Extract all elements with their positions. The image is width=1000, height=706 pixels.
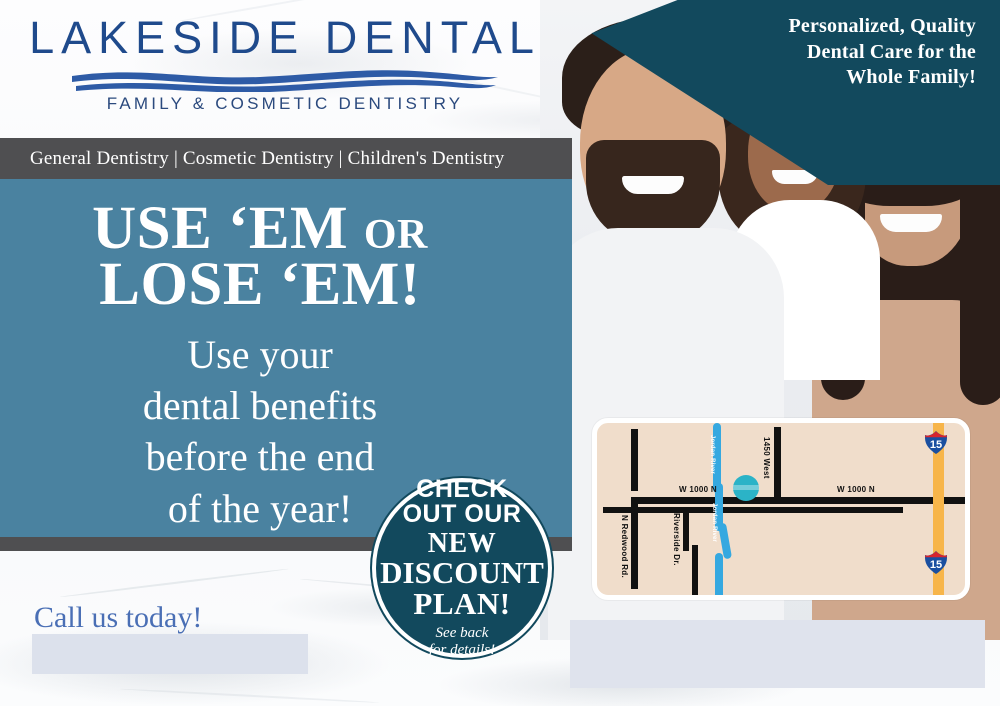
map-label-river-upper: Jordan River: [709, 435, 715, 474]
map-road-riverside: [683, 511, 689, 551]
map-road-redwood: [631, 429, 638, 491]
badge-line-5: PLAN!: [413, 589, 510, 619]
services-bar-text: General Dentistry | Cosmetic Dentistry |…: [0, 148, 504, 170]
badge-note: See back for details!: [429, 625, 495, 659]
map-road-1450west: [774, 427, 781, 501]
interstate-shield-top-icon: 15: [923, 429, 949, 455]
brand-name: LAKESIDE DENTAL: [0, 14, 570, 61]
marble-vein: [120, 688, 380, 704]
contact-placeholder-right[interactable]: [570, 620, 985, 688]
map-label-redwood: N Redwood Rd.: [620, 515, 629, 578]
map-office-location-pin[interactable]: [733, 475, 759, 501]
location-map[interactable]: W 1000 N W 1000 N 1450 West N Redwood Rd…: [592, 418, 970, 600]
hero-headline-line-2: LOSE ‘EM!: [0, 257, 520, 313]
teal-banner-line-2: Dental Care for the: [716, 40, 976, 66]
interstate-shield-top-number: 15: [930, 439, 942, 451]
hero-headline-line-1: USE ‘EM OR: [0, 201, 520, 257]
hero-sub-line-2: dental benefits: [0, 380, 520, 431]
badge-note-line-1: See back: [429, 625, 495, 642]
badge-line-3: NEW: [428, 530, 496, 558]
photo-person-mother-smile: [880, 214, 942, 232]
badge-line-4: DISCOUNT: [380, 558, 544, 588]
teal-banner-text: Personalized, Quality Dental Care for th…: [716, 14, 976, 91]
map-road-w1000n: [631, 497, 965, 504]
brand-tagline: FAMILY & COSMETIC DENTISTRY: [0, 94, 570, 114]
map-label-w1000n-right: W 1000 N: [837, 485, 875, 494]
wave-icon: [70, 64, 500, 92]
map-label-riverside: Riverside Dr.: [672, 513, 681, 566]
call-to-action-text: Call us today!: [34, 601, 202, 635]
teal-banner-line-3: Whole Family!: [716, 65, 976, 91]
map-label-river-lower: Jordan River: [711, 503, 717, 542]
interstate-shield-bottom-number: 15: [930, 559, 942, 571]
badge-line-2: OUT OUR: [403, 502, 522, 527]
hero-headline: USE ‘EM OR LOSE ‘EM!: [0, 201, 520, 313]
photo-person-father-smile: [622, 176, 684, 194]
services-bar: General Dentistry | Cosmetic Dentistry |…: [0, 138, 572, 179]
postcard: Personalized, Quality Dental Care for th…: [0, 0, 1000, 706]
discount-plan-badge[interactable]: CHECK OUT OUR NEW DISCOUNT PLAN! See bac…: [376, 482, 548, 654]
brand-logo: LAKESIDE DENTAL FAMILY & COSMETIC DENTIS…: [0, 14, 570, 114]
map-label-w1000n-left: W 1000 N: [679, 485, 717, 494]
map-road-riverside-lower: [692, 545, 698, 597]
hero-sub-line-1: Use your: [0, 329, 520, 380]
map-river-lower: [715, 553, 723, 599]
interstate-shield-bottom-icon: 15: [923, 549, 949, 575]
map-road-crossstreet: [603, 507, 903, 513]
contact-placeholder-left[interactable]: [32, 634, 308, 674]
badge-note-line-2: for details!: [429, 642, 495, 659]
teal-banner-line-1: Personalized, Quality: [716, 14, 976, 40]
marble-vein: [60, 568, 289, 598]
badge-line-1: CHECK: [416, 477, 507, 502]
map-label-1450west: 1450 West: [762, 437, 771, 479]
map-road-redwood-lower: [631, 503, 638, 589]
photo-person-mother-hair-right: [960, 150, 1000, 405]
